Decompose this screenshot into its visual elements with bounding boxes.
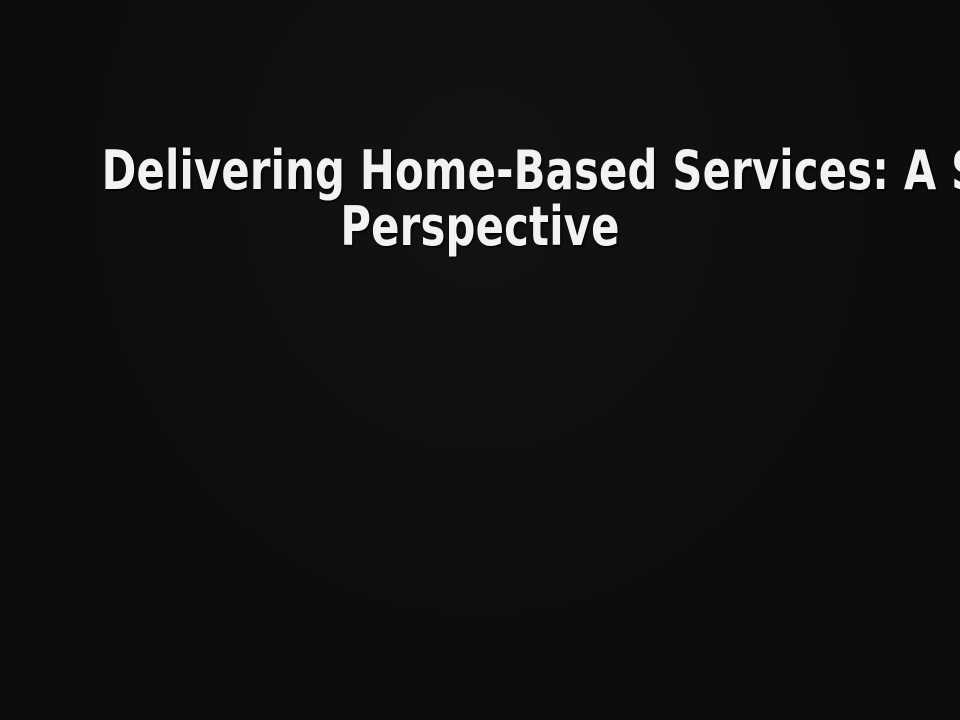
page-title: Delivering Home-Based Services: A Social… [0, 143, 960, 255]
title-line-1: Delivering Home-Based Services: A Social… [102, 143, 859, 199]
title-card-canvas: Delivering Home-Based Services: A Social… [0, 0, 960, 720]
title-line-2: Perspective [102, 199, 859, 255]
